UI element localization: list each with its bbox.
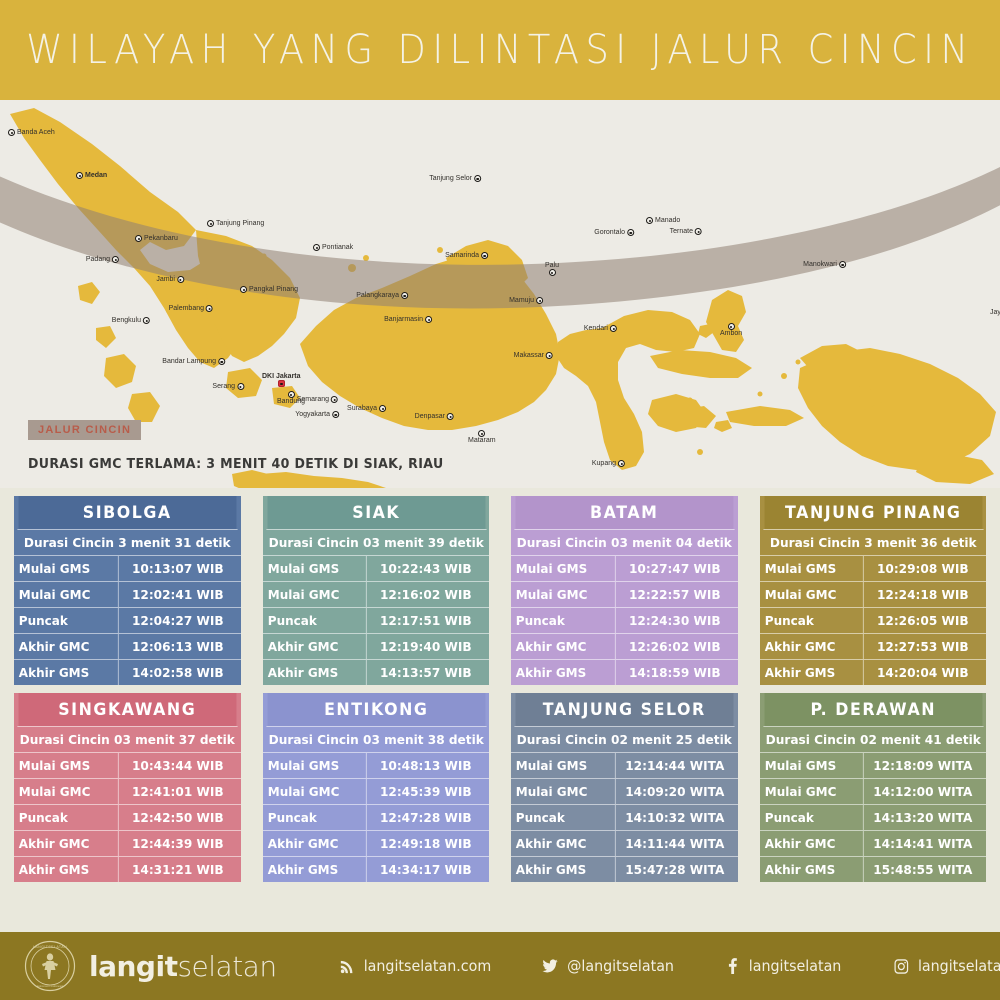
city-dot-icon [288, 391, 295, 398]
city-name: Denpasar [413, 413, 447, 420]
brand-bold: langit [89, 950, 177, 983]
card-row-label: Mulai GMC [263, 582, 361, 607]
city-dot-icon [143, 317, 150, 324]
map-container: Banda AcehMedanTanjung PinangPekanbaruPa… [0, 100, 1000, 488]
city-name: Pontianak [320, 244, 355, 251]
city-name: Bengkulu [110, 317, 143, 324]
card-row-value: 12:27:53 WIB [863, 634, 984, 659]
card-row-label: Akhir GMS [511, 857, 609, 882]
map-city-marker: Palangkaraya [354, 292, 408, 299]
city-name: Bandar Lampung [160, 358, 218, 365]
city-dot-icon [237, 383, 244, 390]
card-row-label: Mulai GMC [760, 582, 858, 607]
island-halmahera [706, 290, 746, 352]
card-row-value: 12:24:30 WIB [615, 608, 736, 633]
card-row-label: Mulai GMC [511, 779, 609, 804]
page-footer: LANGITSELATAN astronomi indonesia langit… [0, 932, 1000, 1000]
map-city-marker: Surabaya [345, 405, 386, 412]
city-dot-icon [549, 269, 556, 276]
card-row-label: Puncak [511, 805, 609, 830]
card-row: Puncak12:24:30 WIB [511, 607, 738, 633]
city-dot-icon [135, 235, 142, 242]
card-row: Akhir GMS15:48:55 WITA [760, 856, 987, 882]
city-name: Manokwari [801, 261, 839, 268]
city-dot-icon [331, 396, 338, 403]
card-row-value: 12:22:57 WIB [615, 582, 736, 607]
city-name: Yogyakarta [293, 411, 332, 418]
island-buru [680, 406, 716, 428]
card-row-value: 14:02:58 WIB [118, 660, 239, 685]
timing-card: TANJUNG SELORDurasi Cincin 02 menit 25 d… [511, 693, 738, 882]
card-row-value: 10:13:07 WIB [118, 556, 239, 581]
card-row-value: 14:14:41 WITA [863, 831, 984, 856]
card-row-label: Mulai GMS [511, 753, 609, 778]
rss-icon [339, 958, 355, 975]
city-dot-icon [313, 244, 320, 251]
card-title: SINGKAWANG [19, 693, 236, 726]
card-row-label: Akhir GMC [14, 634, 112, 659]
small-island [758, 392, 763, 397]
card-row: Puncak12:17:51 WIB [263, 607, 490, 633]
card-row-value: 10:48:13 WIB [366, 753, 487, 778]
card-duration: Durasi Cincin 03 menit 04 detik [514, 529, 734, 555]
card-row-value: 15:47:28 WITA [615, 857, 736, 882]
map-city-marker: Tanjung Selor [427, 175, 481, 182]
card-row-value: 12:06:13 WIB [118, 634, 239, 659]
city-name: Jayapura [988, 309, 1000, 316]
brand-logo[interactable]: LANGITSELATAN astronomi indonesia langit… [24, 940, 277, 992]
card-row-label: Puncak [14, 608, 112, 633]
city-dot-icon [76, 172, 83, 179]
card-row-label: Akhir GMC [14, 831, 112, 856]
map-city-marker: Medan [76, 172, 109, 179]
island-nias [104, 354, 136, 388]
map-city-marker: Pekanbaru [135, 235, 180, 242]
card-row: Akhir GMS14:34:17 WIB [263, 856, 490, 882]
card-row-label: Mulai GMS [511, 556, 609, 581]
page-header: WILAYAH YANG DILINTASI JALUR CINCIN [0, 0, 1000, 100]
card-row: Mulai GMC12:45:39 WIB [263, 778, 490, 804]
svg-text:LANGITSELATAN: LANGITSELATAN [33, 945, 67, 949]
city-dot-icon [610, 325, 617, 332]
card-row-label: Mulai GMC [760, 779, 858, 804]
card-row: Mulai GMC12:16:02 WIB [263, 581, 490, 607]
city-dot-icon [646, 217, 653, 224]
small-island [532, 390, 537, 395]
map-city-marker: Kupang [590, 460, 625, 467]
card-row-value: 12:26:02 WIB [615, 634, 736, 659]
legend-label: JALUR CINCIN [38, 424, 131, 436]
card-row-value: 12:17:51 WIB [366, 608, 487, 633]
card-row: Mulai GMC12:02:41 WIB [14, 581, 241, 607]
city-dot-icon [425, 316, 432, 323]
card-row: Mulai GMS10:48:13 WIB [263, 752, 490, 778]
city-dot-icon [177, 276, 184, 283]
city-name: Mamuju [507, 297, 536, 304]
small-island [688, 398, 693, 403]
map-city-marker: Gorontalo [592, 229, 634, 236]
legend-subtitle: DURASI GMC TERLAMA: 3 MENIT 40 DETIK DI … [28, 456, 444, 472]
card-duration: Durasi Cincin 02 menit 25 detik [514, 726, 734, 752]
city-name: Ambon [718, 330, 744, 337]
card-row: Akhir GMC14:14:41 WITA [760, 830, 987, 856]
city-name: Pangkal Pinang [247, 286, 300, 293]
city-dot-icon [474, 175, 481, 182]
card-row-label: Akhir GMC [511, 831, 609, 856]
card-row-label: Akhir GMC [760, 634, 858, 659]
card-title: P. DERAWAN [764, 693, 981, 726]
timing-card: TANJUNG PINANGDurasi Cincin 3 menit 36 d… [760, 496, 987, 685]
card-row-label: Puncak [511, 608, 609, 633]
city-timing-cards: SIBOLGADurasi Cincin 3 menit 31 detikMul… [0, 488, 1000, 882]
city-name: Ternate [668, 228, 695, 235]
map-city-marker: DKI Jakarta [260, 373, 303, 388]
social-link-facebook[interactable]: langitselatan [724, 957, 841, 975]
card-row-label: Akhir GMS [760, 660, 858, 685]
city-name: Palu [543, 262, 561, 269]
card-row: Puncak12:26:05 WIB [760, 607, 987, 633]
card-title: TANJUNG SELOR [516, 693, 733, 726]
card-row-value: 12:41:01 WIB [118, 779, 239, 804]
social-label: langitselatan.com [363, 957, 491, 975]
small-island [781, 373, 787, 379]
timing-card: BATAMDurasi Cincin 03 menit 04 detikMula… [511, 496, 738, 685]
card-duration: Durasi Cincin 3 menit 36 detik [763, 529, 983, 555]
card-row: Puncak14:10:32 WITA [511, 804, 738, 830]
brand-light: selatan [177, 950, 276, 983]
social-link-rss[interactable]: langitselatan.com [339, 957, 491, 975]
map-city-marker: Jayapura [988, 302, 1000, 317]
map-city-marker: Mataram [466, 430, 498, 445]
card-row-value: 14:13:20 WITA [863, 805, 984, 830]
card-row: Akhir GMC14:11:44 WITA [511, 830, 738, 856]
card-row: Mulai GMS10:22:43 WIB [263, 555, 490, 581]
city-name: Serang [210, 383, 237, 390]
card-row: Puncak12:42:50 WIB [14, 804, 241, 830]
legend-jalur-cincin: JALUR CINCIN [28, 420, 141, 440]
timing-card: SINGKAWANGDurasi Cincin 03 menit 37 deti… [14, 693, 241, 882]
small-island [363, 255, 369, 261]
social-links: langitselatan.com@langitselatanlangitsel… [335, 957, 1000, 975]
map-city-marker: Denpasar [413, 413, 454, 420]
card-row-label: Akhir GMS [14, 857, 112, 882]
city-dot-icon [8, 129, 15, 136]
city-dot-icon [218, 358, 225, 365]
card-row: Mulai GMC14:09:20 WITA [511, 778, 738, 804]
city-name: Jambi [154, 276, 177, 283]
card-row: Akhir GMC12:27:53 WIB [760, 633, 987, 659]
card-row-value: 12:14:44 WITA [615, 753, 736, 778]
city-name: Semarang [295, 396, 331, 403]
card-row-value: 14:20:04 WIB [863, 660, 984, 685]
card-row-label: Mulai GMC [263, 779, 361, 804]
small-island [437, 247, 443, 253]
brand-wordmark: langitselatan [89, 950, 277, 983]
indonesia-map [0, 100, 1000, 488]
card-row-value: 14:09:20 WITA [615, 779, 736, 804]
card-row-label: Mulai GMS [263, 556, 361, 581]
card-row: Mulai GMC12:22:57 WIB [511, 581, 738, 607]
map-city-marker: Serang [210, 383, 244, 390]
city-dot-icon [206, 305, 213, 312]
map-city-marker: Palembang [167, 305, 213, 312]
card-row-value: 12:42:50 WIB [118, 805, 239, 830]
card-row: Mulai GMS12:18:09 WITA [760, 752, 987, 778]
city-dot-icon [618, 460, 625, 467]
city-name: Padang [84, 256, 112, 263]
card-row-value: 12:02:41 WIB [118, 582, 239, 607]
city-dot-icon [379, 405, 386, 412]
card-row-label: Akhir GMS [14, 660, 112, 685]
card-row-value: 10:22:43 WIB [366, 556, 487, 581]
card-row: Akhir GMC12:19:40 WIB [263, 633, 490, 659]
card-row: Mulai GMC14:12:00 WITA [760, 778, 987, 804]
city-dot-icon [478, 430, 485, 437]
card-row-label: Akhir GMS [511, 660, 609, 685]
card-row: Mulai GMS10:29:08 WIB [760, 555, 987, 581]
card-row-value: 14:12:00 WITA [863, 779, 984, 804]
card-row-value: 12:47:28 WIB [366, 805, 487, 830]
card-row-value: 10:27:47 WIB [615, 556, 736, 581]
city-dot-icon [207, 220, 214, 227]
card-row: Akhir GMS14:31:21 WIB [14, 856, 241, 882]
card-row-label: Puncak [263, 805, 361, 830]
map-city-marker: Banda Aceh [8, 129, 57, 136]
city-dot-icon [240, 286, 247, 293]
card-row-label: Puncak [263, 608, 361, 633]
card-row-value: 12:16:02 WIB [366, 582, 487, 607]
card-row-value: 12:44:39 WIB [118, 831, 239, 856]
card-row: Mulai GMC12:24:18 WIB [760, 581, 987, 607]
svg-text:astronomi indonesia: astronomi indonesia [37, 984, 64, 988]
city-name: Samarinda [443, 252, 481, 259]
card-row-label: Akhir GMS [263, 857, 361, 882]
map-city-marker: Yogyakarta [293, 411, 339, 418]
card-title: TANJUNG PINANG [764, 496, 981, 529]
city-dot-icon [695, 228, 702, 235]
city-name: Pekanbaru [142, 235, 180, 242]
page-title: WILAYAH YANG DILINTASI JALUR CINCIN [26, 27, 974, 73]
city-dot-icon [839, 261, 846, 268]
city-name: Tanjung Selor [427, 175, 474, 182]
map-city-marker: Manado [646, 217, 682, 224]
map-city-marker: Bandar Lampung [160, 358, 225, 365]
map-city-marker: Bengkulu [110, 317, 150, 324]
card-row: Akhir GMS14:20:04 WIB [760, 659, 987, 685]
card-row: Mulai GMC12:41:01 WIB [14, 778, 241, 804]
card-row-value: 12:24:18 WIB [863, 582, 984, 607]
sulawesi-east-arm [650, 350, 752, 378]
twitter-icon [542, 958, 558, 975]
city-name: Kendari [582, 325, 610, 332]
social-label: @langitselatan [567, 957, 674, 975]
card-row: Akhir GMS14:13:57 WIB [263, 659, 490, 685]
card-row-label: Puncak [760, 608, 858, 633]
card-row-label: Puncak [760, 805, 858, 830]
card-row-label: Akhir GMS [760, 857, 858, 882]
card-duration: Durasi Cincin 03 menit 38 detik [266, 726, 486, 752]
city-dot-icon [546, 352, 553, 359]
social-label: langitselatanmedia [918, 957, 1000, 975]
card-row: Akhir GMS14:18:59 WIB [511, 659, 738, 685]
map-city-marker: Manokwari [801, 261, 846, 268]
card-row: Puncak14:13:20 WITA [760, 804, 987, 830]
card-row-label: Puncak [14, 805, 112, 830]
card-row-value: 14:11:44 WITA [615, 831, 736, 856]
map-city-marker: Banjarmasin [382, 316, 432, 323]
map-city-marker: Kendari [582, 325, 617, 332]
card-row: Mulai GMS10:43:44 WIB [14, 752, 241, 778]
card-row: Akhir GMS14:02:58 WIB [14, 659, 241, 685]
card-row: Akhir GMC12:06:13 WIB [14, 633, 241, 659]
city-name: Banjarmasin [382, 316, 425, 323]
card-row-label: Mulai GMC [14, 582, 112, 607]
city-name: Gorontalo [592, 229, 627, 236]
city-dot-icon [536, 297, 543, 304]
social-label: langitselatan [749, 957, 842, 975]
timing-card: ENTIKONGDurasi Cincin 03 menit 38 detikM… [263, 693, 490, 882]
map-city-marker: Palu [543, 262, 561, 277]
card-row: Puncak12:04:27 WIB [14, 607, 241, 633]
map-city-marker: Samarinda [443, 252, 488, 259]
island-mentawai-1 [78, 282, 100, 304]
card-row-label: Mulai GMS [760, 753, 858, 778]
card-row: Akhir GMC12:26:02 WIB [511, 633, 738, 659]
city-dot-icon [627, 229, 634, 236]
card-row-label: Mulai GMC [511, 582, 609, 607]
card-row: Mulai GMS10:27:47 WIB [511, 555, 738, 581]
card-row: Puncak12:47:28 WIB [263, 804, 490, 830]
city-dot-icon [447, 413, 454, 420]
city-name: Palangkaraya [354, 292, 401, 299]
timing-card: SIAKDurasi Cincin 03 menit 39 detikMulai… [263, 496, 490, 685]
card-row-label: Akhir GMC [511, 634, 609, 659]
card-row-value: 12:49:18 WIB [366, 831, 487, 856]
card-row-label: Mulai GMS [760, 556, 858, 581]
social-link-twitter[interactable]: @langitselatan [542, 957, 674, 975]
card-row-label: Akhir GMS [263, 660, 361, 685]
card-row: Akhir GMS15:47:28 WITA [511, 856, 738, 882]
card-row-value: 12:18:09 WITA [863, 753, 984, 778]
card-row: Akhir GMC12:44:39 WIB [14, 830, 241, 856]
map-city-marker: Semarang [295, 396, 338, 403]
city-dot-icon [278, 380, 285, 387]
card-row-label: Mulai GMS [263, 753, 361, 778]
instagram-icon [893, 958, 909, 975]
social-link-instagram[interactable]: langitselatanmedia [893, 957, 1000, 975]
card-row-value: 12:19:40 WIB [366, 634, 487, 659]
island-sulawesi [556, 310, 700, 470]
map-city-marker: Pontianak [313, 244, 355, 251]
card-title: BATAM [516, 496, 733, 529]
card-row-label: Akhir GMC [263, 634, 361, 659]
map-city-marker: Mamuju [507, 297, 543, 304]
card-row-value: 14:18:59 WIB [615, 660, 736, 685]
card-row-value: 14:31:21 WIB [118, 857, 239, 882]
city-dot-icon [112, 256, 119, 263]
card-row-value: 10:29:08 WIB [863, 556, 984, 581]
card-row-value: 12:04:27 WIB [118, 608, 239, 633]
small-island [517, 397, 523, 403]
island-ambon [714, 420, 732, 432]
card-row-label: Mulai GMS [14, 753, 112, 778]
card-row-value: 12:26:05 WIB [863, 608, 984, 633]
timing-card: SIBOLGADurasi Cincin 3 menit 31 detikMul… [14, 496, 241, 685]
card-title: SIBOLGA [19, 496, 236, 529]
city-name: Palembang [167, 305, 206, 312]
facebook-icon [724, 958, 740, 975]
city-name: DKI Jakarta [260, 373, 303, 380]
card-row-value: 14:13:57 WIB [366, 660, 487, 685]
card-row-label: Mulai GMS [14, 556, 112, 581]
city-dot-icon [401, 292, 408, 299]
map-city-marker: Pangkal Pinang [240, 286, 300, 293]
card-row-value: 14:10:32 WITA [615, 805, 736, 830]
map-city-marker: Makassar [512, 352, 553, 359]
city-name: Banda Aceh [15, 129, 57, 136]
card-row-value: 12:45:39 WIB [366, 779, 487, 804]
map-city-marker: Padang [84, 256, 119, 263]
card-row: Mulai GMS10:13:07 WIB [14, 555, 241, 581]
card-title: ENTIKONG [267, 693, 484, 726]
card-row: Mulai GMS12:14:44 WITA [511, 752, 738, 778]
city-dot-icon [332, 411, 339, 418]
timing-card: P. DERAWANDurasi Cincin 02 menit 41 deti… [760, 693, 987, 882]
city-name: Surabaya [345, 405, 379, 412]
city-dot-icon [728, 323, 735, 330]
java-west [232, 470, 278, 488]
city-name: Tanjung Pinang [214, 220, 266, 227]
card-duration: Durasi Cincin 3 menit 31 detik [17, 529, 237, 555]
map-city-marker: Ambon [718, 323, 744, 338]
card-row: Akhir GMC12:49:18 WIB [263, 830, 490, 856]
small-island [697, 449, 703, 455]
card-duration: Durasi Cincin 03 menit 39 detik [266, 529, 486, 555]
city-name: Manado [653, 217, 682, 224]
card-title: SIAK [267, 496, 484, 529]
card-row-value: 15:48:55 WITA [863, 857, 984, 882]
small-island [796, 360, 801, 365]
city-name: Kupang [590, 460, 618, 467]
map-city-marker: Tanjung Pinang [207, 220, 266, 227]
city-name: Makassar [512, 352, 546, 359]
map-city-marker: Ternate [668, 228, 702, 235]
card-row-value: 10:43:44 WIB [118, 753, 239, 778]
city-name: Medan [83, 172, 109, 179]
city-name: Mataram [466, 437, 498, 444]
card-row-label: Mulai GMC [14, 779, 112, 804]
island-siberut [128, 392, 160, 422]
card-row-label: Akhir GMC [760, 831, 858, 856]
langitselatan-seal-icon: LANGITSELATAN astronomi indonesia [24, 940, 76, 992]
card-duration: Durasi Cincin 02 menit 41 detik [763, 726, 983, 752]
city-dot-icon [481, 252, 488, 259]
card-row-label: Akhir GMC [263, 831, 361, 856]
island-mentawai-2 [96, 326, 116, 348]
card-row-value: 14:34:17 WIB [366, 857, 487, 882]
card-duration: Durasi Cincin 03 menit 37 detik [17, 726, 237, 752]
map-city-marker: Jambi [154, 276, 184, 283]
island-seram [726, 406, 804, 426]
